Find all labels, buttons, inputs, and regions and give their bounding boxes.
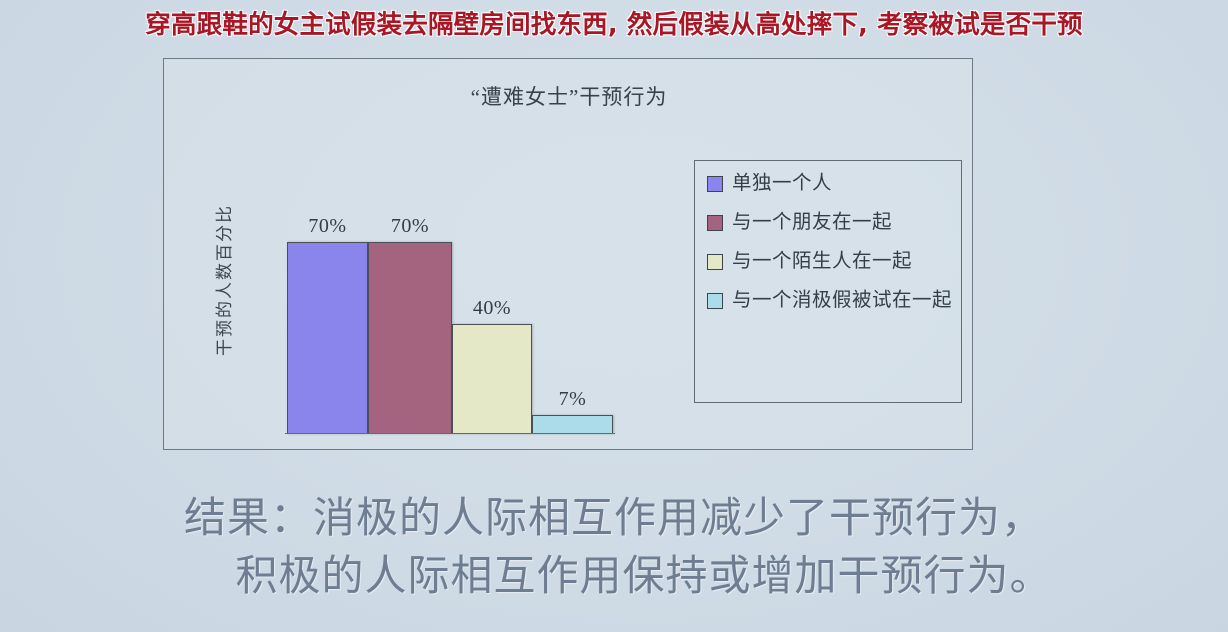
plot-area: 70%70%40%7% xyxy=(287,160,613,434)
caption-line-2: 积极的人际相互作用保持或增加干预行为。 xyxy=(0,548,1228,606)
legend-label: 与一个消极假被试在一起 xyxy=(732,288,952,313)
legend-swatch-icon xyxy=(707,215,723,231)
bar-column: 40% xyxy=(452,160,532,434)
header-title: 穿高跟鞋的女主试假装去隔壁房间找东西, 然后假装从高处摔下, 考察被试是否干预 xyxy=(0,4,1228,41)
bar-value-label: 70% xyxy=(308,215,346,238)
bar-value-label: 40% xyxy=(473,297,511,320)
chart-legend: 单独一个人与一个朋友在一起与一个陌生人在一起与一个消极假被试在一起 xyxy=(694,160,962,403)
bar xyxy=(532,415,613,434)
legend-label: 与一个陌生人在一起 xyxy=(732,249,912,274)
legend-item: 与一个朋友在一起 xyxy=(707,210,961,235)
bar-value-label: 70% xyxy=(391,215,429,238)
y-axis-label: 干预的人数百分比 xyxy=(210,150,235,410)
legend-swatch-icon xyxy=(707,293,723,309)
bar xyxy=(452,324,532,434)
caption-line-1: 结果：消极的人际相互作用减少了干预行为， xyxy=(0,490,1228,548)
legend-item: 与一个消极假被试在一起 xyxy=(707,288,961,313)
bar-column: 7% xyxy=(532,160,613,434)
bar xyxy=(368,242,452,434)
legend-swatch-icon xyxy=(707,254,723,270)
legend-swatch-icon xyxy=(707,176,723,192)
legend-label: 与一个朋友在一起 xyxy=(732,210,892,235)
legend-item: 单独一个人 xyxy=(707,171,961,196)
bar-column: 70% xyxy=(287,160,368,434)
legend-label: 单独一个人 xyxy=(732,171,832,196)
bar-value-label: 7% xyxy=(559,388,587,411)
chart-title: “遭难女士”干预行为 xyxy=(164,81,974,111)
legend-item: 与一个陌生人在一起 xyxy=(707,249,961,274)
bar-column: 70% xyxy=(368,160,452,434)
bar xyxy=(287,242,368,434)
caption: 结果：消极的人际相互作用减少了干预行为， 积极的人际相互作用保持或增加干预行为。 xyxy=(0,490,1228,606)
x-axis-baseline xyxy=(285,433,615,434)
slide: 穿高跟鞋的女主试假装去隔壁房间找东西, 然后假装从高处摔下, 考察被试是否干预 … xyxy=(0,0,1228,632)
